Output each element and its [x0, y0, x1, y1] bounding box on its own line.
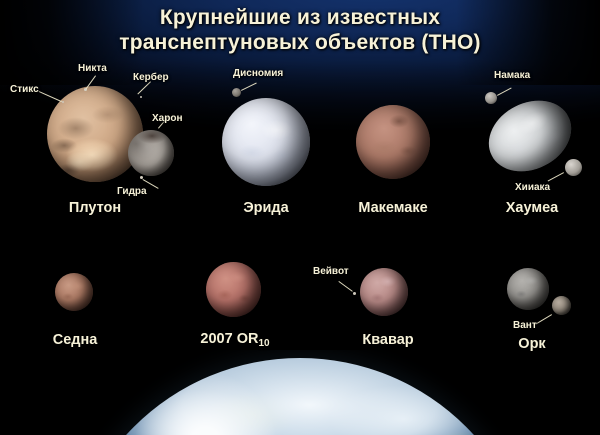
or10-label: 2007 OR10 — [175, 331, 295, 347]
eris-body — [222, 98, 310, 186]
title-line-2: транснептуновых объектов (ТНО) — [0, 30, 600, 55]
quaoar-body — [360, 268, 408, 316]
vanth-moon — [552, 296, 571, 315]
or10-body — [206, 262, 261, 317]
dysnomia-label: Дисномия — [233, 68, 283, 79]
nix-label: Никта — [78, 63, 107, 74]
kerberos-moon-dot — [140, 96, 142, 98]
hiiaka-label: Хииака — [515, 182, 550, 193]
weywot-label: Вейвот — [313, 266, 349, 277]
kerberos-label: Кербер — [133, 72, 169, 83]
vanth-label: Вант — [513, 320, 537, 331]
weywot-moon-dot — [353, 292, 356, 295]
weywot-leader-line — [338, 281, 352, 292]
page-title: Крупнейшие из известных транснептуновых … — [0, 5, 600, 55]
styx-moon-dot — [62, 101, 64, 103]
sedna-body — [55, 273, 93, 311]
earth-limb — [0, 350, 600, 435]
orcus-body — [507, 268, 549, 310]
hiiaka-leader-line — [548, 172, 564, 181]
hydra-label: Гидра — [117, 186, 147, 197]
eris-label: Эрида — [211, 200, 321, 216]
or10-label-subscript: 10 — [258, 338, 269, 349]
namaka-moon — [485, 92, 497, 104]
or10-label-text: 2007 OR — [200, 331, 258, 347]
styx-label: Стикс — [10, 84, 39, 95]
haumea-label: Хаумеа — [482, 200, 582, 216]
pluto-label: Плутон — [35, 200, 155, 216]
sedna-label: Седна — [30, 332, 120, 348]
charon-body — [128, 130, 174, 176]
charon-label: Харон — [152, 113, 183, 124]
orcus-label: Орк — [497, 336, 567, 352]
makemake-label: Макемаке — [335, 200, 451, 216]
earth-globe — [65, 358, 535, 435]
title-line-1: Крупнейшие из известных — [0, 5, 600, 30]
dysnomia-moon — [232, 88, 241, 97]
namaka-label: Намака — [494, 70, 530, 81]
quaoar-label: Квавар — [338, 332, 438, 348]
tno-poster: Крупнейшие из известных транснептуновых … — [0, 0, 600, 435]
hiiaka-moon — [565, 159, 582, 176]
vanth-leader-line — [535, 314, 552, 325]
makemake-body — [356, 105, 430, 179]
